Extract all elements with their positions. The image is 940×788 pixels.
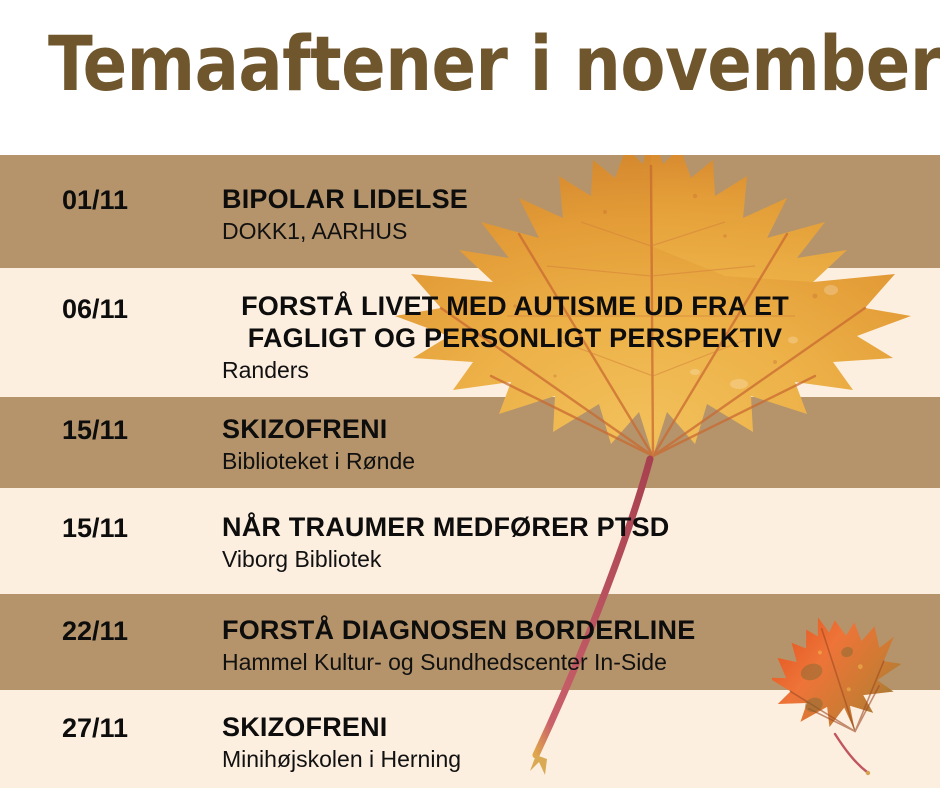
event-date: 01/11 [62,185,128,216]
event-row: 22/11 FORSTÅ DIAGNOSEN BORDERLINE Hammel… [0,594,940,690]
event-venue: Randers [222,356,930,384]
event-title: NÅR TRAUMER MEDFØRER PTSD [222,511,930,543]
event-date: 27/11 [62,713,128,744]
event-body: FORSTÅ DIAGNOSEN BORDERLINE Hammel Kultu… [222,614,930,676]
event-row: 15/11 SKIZOFRENI Biblioteket i Rønde [0,397,940,488]
event-body: FORSTÅ LIVET MED AUTISME UD FRA ET FAGLI… [222,290,930,384]
event-title: BIPOLAR LIDELSE [222,183,930,215]
event-title: SKIZOFRENI [222,711,930,743]
event-body: SKIZOFRENI Biblioteket i Rønde [222,413,930,475]
event-date: 15/11 [62,415,128,446]
event-title: SKIZOFRENI [222,413,930,445]
event-body: BIPOLAR LIDELSE DOKK1, AARHUS [222,183,930,245]
event-title: FORSTÅ LIVET MED AUTISME UD FRA ET FAGLI… [222,290,808,354]
event-venue: Viborg Bibliotek [222,545,930,573]
event-date: 15/11 [62,513,128,544]
event-date: 06/11 [62,294,128,325]
poster-canvas: Temaaftener i november 01/11 BIPOLAR LID… [0,0,940,788]
event-venue: Minihøjskolen i Herning [222,745,930,773]
event-venue: Hammel Kultur- og Sundhedscenter In-Side [222,648,930,676]
event-venue: Biblioteket i Rønde [222,447,930,475]
event-title: FORSTÅ DIAGNOSEN BORDERLINE [222,614,930,646]
page-title: Temaaftener i november [48,26,940,102]
event-row: 06/11 FORSTÅ LIVET MED AUTISME UD FRA ET… [0,268,940,397]
event-venue: DOKK1, AARHUS [222,217,930,245]
event-date: 22/11 [62,616,128,647]
event-row: 01/11 BIPOLAR LIDELSE DOKK1, AARHUS [0,155,940,268]
event-body: SKIZOFRENI Minihøjskolen i Herning [222,711,930,773]
poster-header: Temaaftener i november [0,0,940,155]
event-row: 27/11 SKIZOFRENI Minihøjskolen i Herning [0,690,940,788]
event-body: NÅR TRAUMER MEDFØRER PTSD Viborg Bibliot… [222,511,930,573]
event-row: 15/11 NÅR TRAUMER MEDFØRER PTSD Viborg B… [0,488,940,594]
